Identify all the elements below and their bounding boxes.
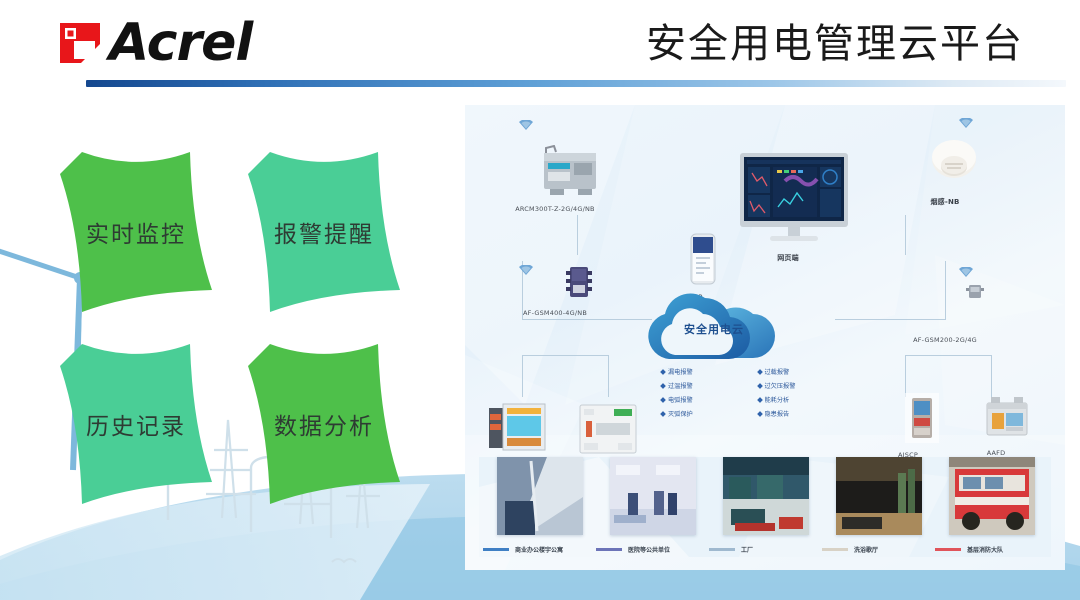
- din-rail-meter-icon: [578, 403, 638, 455]
- cloud-feature-label: 灭弧保护: [668, 409, 693, 418]
- scene-photo: [723, 457, 809, 535]
- scene-legend-swatch: [596, 548, 622, 551]
- scene-legend: 洗浴歌厅: [822, 545, 878, 554]
- scene-photo: [610, 457, 696, 535]
- diamond-bullet-icon: [757, 369, 763, 375]
- wifi-icon: [959, 267, 973, 278]
- plaque-shape: [60, 152, 212, 312]
- brand-logo: Acrel: [57, 20, 252, 66]
- scene-photo: [497, 457, 583, 535]
- wifi-icon: [959, 118, 973, 129]
- cloud-feature-label: 隐患报告: [765, 409, 790, 418]
- connector-line: [522, 355, 608, 356]
- scene-legend: 医院等公共单位: [596, 545, 670, 554]
- node-af-gsm200: AF-GSM200-2G/4G: [875, 281, 1015, 344]
- af-gsm200-device-icon: [964, 281, 986, 301]
- scene-legend: 商业办公楼宇公寓: [483, 545, 563, 554]
- node-aafd: AAFD: [951, 397, 1041, 457]
- page-header: Acrel 安全用电管理云平台: [0, 0, 1080, 96]
- scene-legend: 工厂: [709, 545, 753, 554]
- connector-line: [522, 355, 523, 397]
- cloud-feature-label: 电弧报警: [668, 395, 693, 404]
- diamond-bullet-icon: [660, 397, 666, 403]
- wifi-icon: [519, 120, 533, 131]
- connector-line: [905, 355, 906, 397]
- scene-legend-label: 商业办公楼宇公寓: [515, 545, 563, 554]
- node-caption: AAFD: [951, 449, 1041, 457]
- aiscp-device-icon: [905, 393, 939, 443]
- bird-icon: [332, 559, 356, 562]
- node-caption: 烟感-NB: [899, 197, 991, 207]
- cloud-feature-item: 过温报警: [661, 381, 750, 390]
- cloud-feature-label: 过欠压报警: [765, 381, 796, 390]
- cloud-feature-label: 能耗分析: [765, 395, 790, 404]
- node-arcm300t: ARCM300T-Z-2G/4G/NB: [487, 145, 623, 213]
- scene-legend-swatch: [483, 548, 509, 551]
- af-gsm400-device-icon: [562, 263, 596, 301]
- arcm300t-device-icon: [534, 145, 604, 197]
- scene-legend-label: 工厂: [741, 545, 753, 554]
- feature-plaque-4[interactable]: 数据分析: [248, 344, 400, 504]
- node-web: 网页端: [723, 153, 853, 263]
- scene-legend-swatch: [822, 548, 848, 551]
- scene-photo: [836, 457, 922, 535]
- scene-legend-label: 医院等公共单位: [628, 545, 670, 554]
- scene-legend-label: 基层消防大队: [967, 545, 1003, 554]
- diamond-bullet-icon: [660, 383, 666, 389]
- diamond-bullet-icon: [660, 411, 666, 417]
- brand-name: Acrel: [109, 20, 252, 66]
- power-meter-device-icon: [487, 400, 549, 454]
- connector-line: [905, 215, 906, 255]
- node-caption: AF-GSM400-4G/NB: [485, 309, 625, 317]
- connector-line: [905, 355, 991, 356]
- cloud-feature-item: 电弧报警: [661, 395, 750, 404]
- page-title: 安全用电管理云平台: [646, 20, 1024, 68]
- cloud-feature-item: 过载报警: [758, 367, 847, 376]
- cloud-feature-label: 过温报警: [668, 381, 693, 390]
- connector-line: [577, 215, 578, 255]
- node-caption: ARCM300T-Z-2G/4G/NB: [487, 205, 623, 213]
- smartphone-icon: [690, 233, 716, 285]
- cloud-feature-item: 漏电报警: [661, 367, 750, 376]
- node-caption: 网页端: [723, 253, 853, 263]
- system-architecture-image: ARCM300T-Z-2G/4G/NB APP: [465, 105, 1065, 570]
- scene-legend-swatch: [935, 548, 961, 551]
- cloud-feature-item: 隐患报告: [758, 409, 847, 418]
- diamond-bullet-icon: [660, 369, 666, 375]
- cloud-feature-item: 过欠压报警: [758, 381, 847, 390]
- aafd-device-icon: [984, 397, 1030, 441]
- application-scene-strip: 商业办公楼宇公寓医院等公共单位工厂洗浴歌厅基层消防大队: [479, 457, 1051, 557]
- diamond-bullet-icon: [757, 411, 763, 417]
- connector-line: [608, 355, 609, 397]
- cloud-feature-label: 过载报警: [765, 367, 790, 376]
- scene-legend-label: 洗浴歌厅: [854, 545, 878, 554]
- feature-plaque-2[interactable]: 报警提醒: [248, 152, 400, 312]
- header-divider: [86, 80, 1066, 87]
- cloud-graphic: 安全用电云: [633, 280, 818, 370]
- smoke-detector-icon: [925, 137, 983, 189]
- feature-plaque-3[interactable]: 历史记录: [60, 344, 212, 504]
- desktop-monitor-icon: [740, 153, 848, 245]
- node-caption: AF-GSM200-2G/4G: [875, 336, 1015, 344]
- diamond-bullet-icon: [757, 383, 763, 389]
- cloud-label: 安全用电云: [669, 321, 759, 337]
- connector-line: [991, 355, 992, 397]
- cloud-feature-label: 漏电报警: [668, 367, 693, 376]
- plaque-shape: [60, 344, 212, 504]
- cloud-feature-item: 灭弧保护: [661, 409, 750, 418]
- plaque-shape: [248, 344, 400, 504]
- diamond-bullet-icon: [757, 397, 763, 403]
- cloud-feature-item: 能耗分析: [758, 395, 847, 404]
- scene-photo: [949, 457, 1035, 535]
- cloud-feature-list: 漏电报警过载报警过温报警过欠压报警电弧报警能耗分析灭弧保护隐患报告: [661, 367, 846, 418]
- acrel-square-logo-icon: [57, 20, 103, 66]
- node-aiscp: AISCP: [863, 393, 953, 459]
- scene-legend: 基层消防大队: [935, 545, 1003, 554]
- feature-plaque-1[interactable]: 实时监控: [60, 152, 212, 312]
- scene-legend-swatch: [709, 548, 735, 551]
- node-af-gsm400: AF-GSM400-4G/NB: [485, 263, 625, 317]
- plaque-shape: [248, 152, 400, 312]
- node-smoke-detector: 烟感-NB: [899, 137, 991, 207]
